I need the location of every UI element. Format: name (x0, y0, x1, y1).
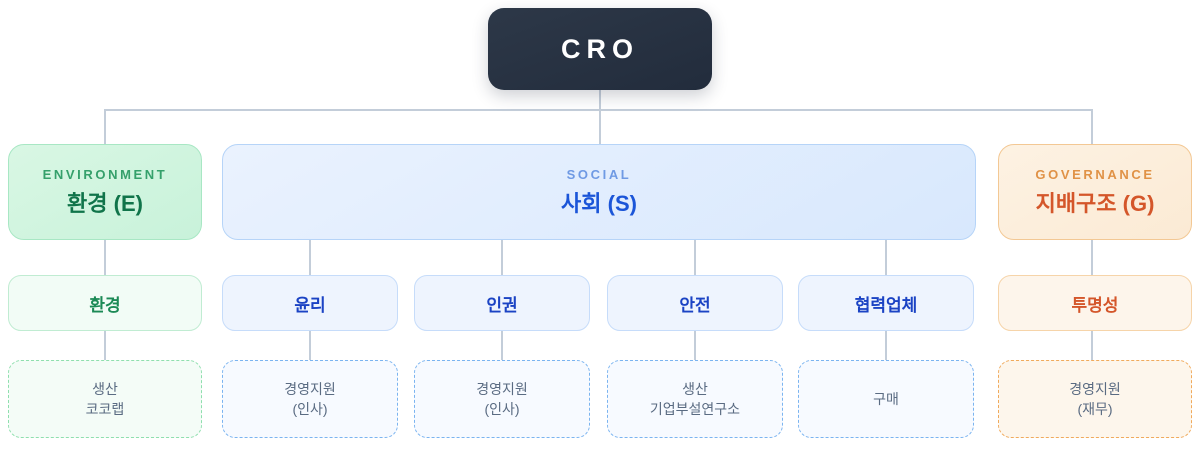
node-cro[interactable]: CRO (488, 8, 712, 90)
pillar-governance-ko: 지배구조 (G) (1036, 186, 1155, 218)
department-ethics-line1: 경영지원 (284, 379, 336, 399)
department-transparency-line1: 경영지원 (1069, 379, 1121, 399)
node-category-human-rights[interactable]: 인권 (414, 275, 590, 331)
category-suppliers-label: 협력업체 (855, 291, 918, 316)
node-department-suppliers[interactable]: 구매 (798, 360, 974, 438)
cro-label: CRO (561, 34, 639, 65)
node-category-environment[interactable]: 환경 (8, 275, 202, 331)
node-category-suppliers[interactable]: 협력업체 (798, 275, 974, 331)
node-department-transparency[interactable]: 경영지원 (재무) (998, 360, 1192, 438)
category-human-rights-label: 인권 (486, 291, 517, 316)
pillar-environment-en: ENVIRONMENT (43, 167, 168, 182)
node-department-safety[interactable]: 생산 기업부설연구소 (607, 360, 783, 438)
department-human-rights-line1: 경영지원 (476, 379, 528, 399)
pillar-environment-ko: 환경 (E) (67, 186, 143, 218)
node-department-environment[interactable]: 생산 코코랩 (8, 360, 202, 438)
department-suppliers-line1: 구매 (873, 389, 899, 409)
node-pillar-environment[interactable]: ENVIRONMENT 환경 (E) (8, 144, 202, 240)
node-department-ethics[interactable]: 경영지원 (인사) (222, 360, 398, 438)
department-ethics-line2: (인사) (292, 399, 327, 419)
node-category-transparency[interactable]: 투명성 (998, 275, 1192, 331)
department-safety-line1: 생산 (682, 379, 708, 399)
node-category-safety[interactable]: 안전 (607, 275, 783, 331)
pillar-governance-en: GOVERNANCE (1035, 167, 1154, 182)
node-department-human-rights[interactable]: 경영지원 (인사) (414, 360, 590, 438)
department-human-rights-line2: (인사) (484, 399, 519, 419)
department-environment-line1: 생산 (92, 379, 118, 399)
category-transparency-label: 투명성 (1072, 291, 1119, 316)
category-environment-label: 환경 (89, 291, 120, 316)
node-category-ethics[interactable]: 윤리 (222, 275, 398, 331)
category-safety-label: 안전 (679, 291, 710, 316)
department-transparency-line2: (재무) (1077, 399, 1112, 419)
org-chart: CRO ENVIRONMENT 환경 (E) SOCIAL 사회 (S) GOV… (0, 0, 1200, 458)
pillar-social-ko: 사회 (S) (561, 186, 637, 218)
node-pillar-social[interactable]: SOCIAL 사회 (S) (222, 144, 976, 240)
category-ethics-label: 윤리 (294, 291, 325, 316)
department-environment-line2: 코코랩 (86, 399, 125, 419)
pillar-social-en: SOCIAL (567, 167, 632, 182)
department-safety-line2: 기업부설연구소 (650, 399, 740, 419)
node-pillar-governance[interactable]: GOVERNANCE 지배구조 (G) (998, 144, 1192, 240)
